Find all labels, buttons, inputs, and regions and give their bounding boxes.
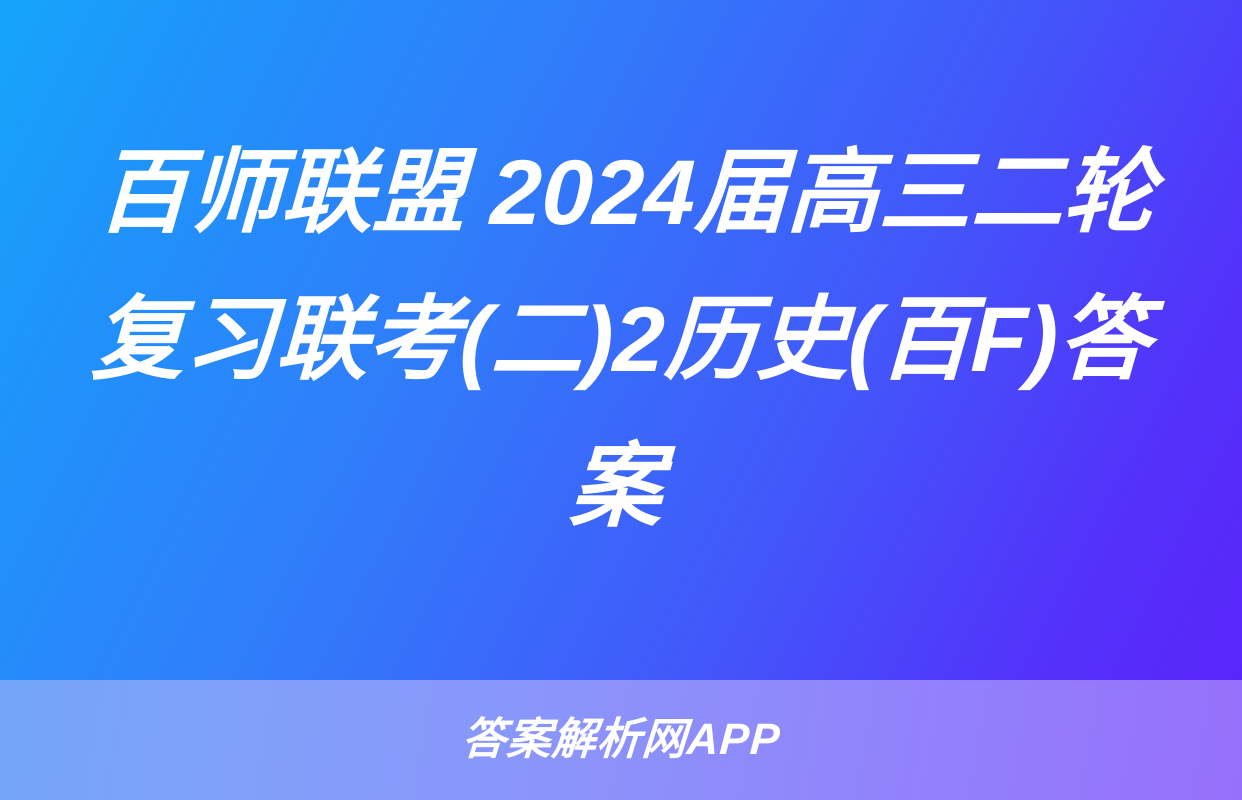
poster-canvas: 百师联盟 2024届高三二轮复习联考(二)2历史(百F)答案 答案解析网APP bbox=[0, 0, 1242, 800]
poster-title: 百师联盟 2024届高三二轮复习联考(二)2历史(百F)答案 bbox=[54, 120, 1187, 561]
watermark-band: 答案解析网APP bbox=[0, 680, 1242, 800]
watermark-label: 答案解析网APP bbox=[460, 714, 782, 766]
title-block: 百师联盟 2024届高三二轮复习联考(二)2历史(百F)答案 bbox=[0, 0, 1242, 680]
